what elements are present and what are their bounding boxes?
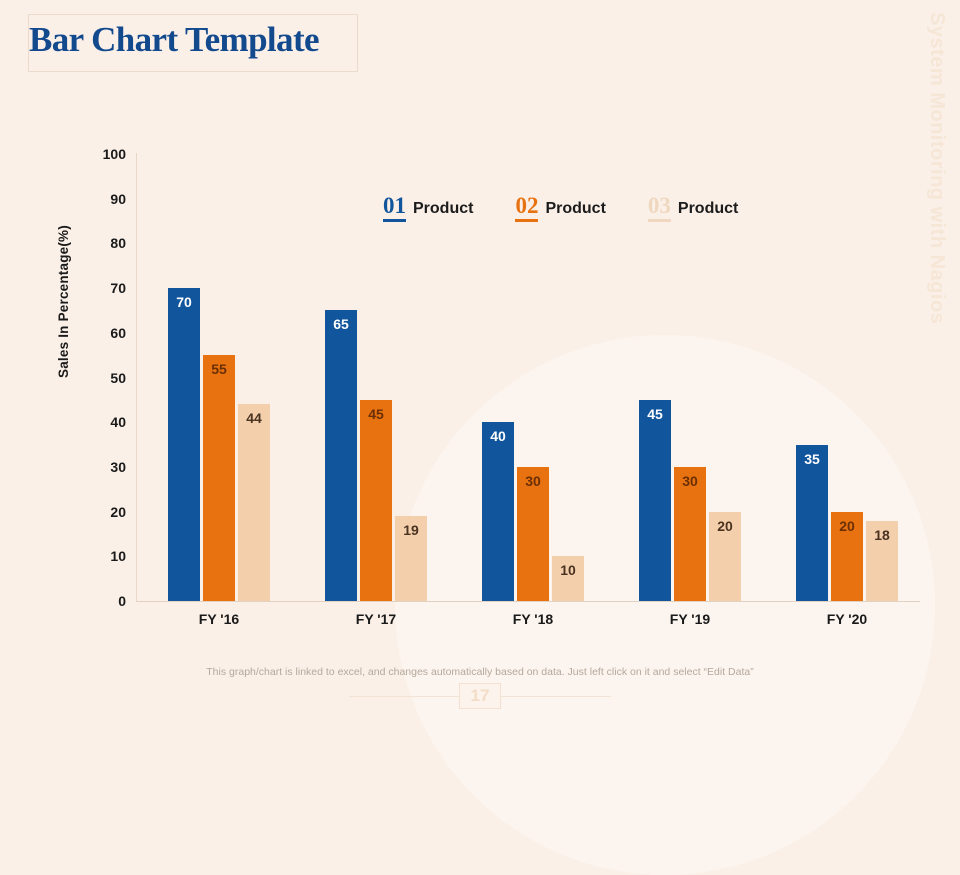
legend-item-product-01[interactable]: 01 Product bbox=[383, 194, 473, 222]
bar[interactable]: 30 bbox=[517, 467, 549, 601]
bar-value-label: 45 bbox=[639, 406, 671, 422]
bar-group: 705544 bbox=[168, 154, 270, 601]
bar[interactable]: 18 bbox=[866, 521, 898, 601]
page-number-bar: 17 bbox=[0, 680, 960, 712]
bar[interactable]: 35 bbox=[796, 445, 828, 601]
bar-value-label: 20 bbox=[831, 518, 863, 534]
bar[interactable]: 19 bbox=[395, 516, 427, 601]
y-axis-title: Sales In Percentage(%) bbox=[56, 225, 71, 378]
bar-value-label: 44 bbox=[238, 410, 270, 426]
x-axis-tick: FY '19 bbox=[639, 611, 741, 627]
legend-item-product-03[interactable]: 03 Product bbox=[648, 194, 738, 222]
bar[interactable]: 20 bbox=[831, 512, 863, 601]
bar-chart: Sales In Percentage(%) 10090807060504030… bbox=[0, 0, 960, 720]
x-axis-tick: FY '20 bbox=[796, 611, 898, 627]
y-axis-tick: 60 bbox=[110, 325, 126, 341]
pager-rule-right bbox=[501, 696, 611, 697]
bar-value-label: 20 bbox=[709, 518, 741, 534]
bar-value-label: 30 bbox=[674, 473, 706, 489]
bar[interactable]: 10 bbox=[552, 556, 584, 601]
chart-legend: 01 Product 02 Product 03 Product bbox=[383, 194, 738, 222]
bar-value-label: 55 bbox=[203, 361, 235, 377]
y-axis-tick: 80 bbox=[110, 235, 126, 251]
legend-label-01: Product bbox=[413, 201, 473, 217]
y-axis-tick: 20 bbox=[110, 504, 126, 520]
bar[interactable]: 45 bbox=[639, 400, 671, 601]
bar[interactable]: 20 bbox=[709, 512, 741, 601]
bar-value-label: 30 bbox=[517, 473, 549, 489]
bar-value-label: 65 bbox=[325, 316, 357, 332]
y-axis-tick: 90 bbox=[110, 191, 126, 207]
bar[interactable]: 40 bbox=[482, 422, 514, 601]
y-axis-tick: 50 bbox=[110, 370, 126, 386]
y-axis-tick: 10 bbox=[110, 548, 126, 564]
legend-label-02: Product bbox=[545, 201, 605, 217]
bar-value-label: 19 bbox=[395, 522, 427, 538]
x-axis-tick: FY '18 bbox=[482, 611, 584, 627]
legend-number-03: 03 bbox=[648, 194, 671, 222]
page-number: 17 bbox=[459, 683, 501, 709]
y-axis-tick: 100 bbox=[103, 146, 126, 162]
y-axis-tick: 0 bbox=[118, 593, 126, 609]
footnote-text: This graph/chart is linked to excel, and… bbox=[0, 666, 960, 678]
bar[interactable]: 45 bbox=[360, 400, 392, 601]
bar-value-label: 10 bbox=[552, 562, 584, 578]
legend-item-product-02[interactable]: 02 Product bbox=[515, 194, 605, 222]
pager-rule-left bbox=[349, 696, 459, 697]
bar-value-label: 40 bbox=[482, 428, 514, 444]
legend-number-02: 02 bbox=[515, 194, 538, 222]
y-axis-tick: 70 bbox=[110, 280, 126, 296]
y-axis-tick: 40 bbox=[110, 414, 126, 430]
y-axis-tick: 30 bbox=[110, 459, 126, 475]
page-title: Bar Chart Template bbox=[29, 20, 319, 60]
bar-value-label: 18 bbox=[866, 527, 898, 543]
bar[interactable]: 30 bbox=[674, 467, 706, 601]
bar[interactable]: 70 bbox=[168, 288, 200, 601]
bar-value-label: 70 bbox=[168, 294, 200, 310]
bar[interactable]: 44 bbox=[238, 404, 270, 601]
bar[interactable]: 55 bbox=[203, 355, 235, 601]
bar-value-label: 35 bbox=[796, 451, 828, 467]
x-axis-line bbox=[136, 601, 920, 602]
legend-number-01: 01 bbox=[383, 194, 406, 222]
x-axis-tick: FY '17 bbox=[325, 611, 427, 627]
bar-value-label: 45 bbox=[360, 406, 392, 422]
bar-group: 352018 bbox=[796, 154, 898, 601]
x-axis-tick: FY '16 bbox=[168, 611, 270, 627]
bar[interactable]: 65 bbox=[325, 310, 357, 601]
legend-label-03: Product bbox=[678, 201, 738, 217]
